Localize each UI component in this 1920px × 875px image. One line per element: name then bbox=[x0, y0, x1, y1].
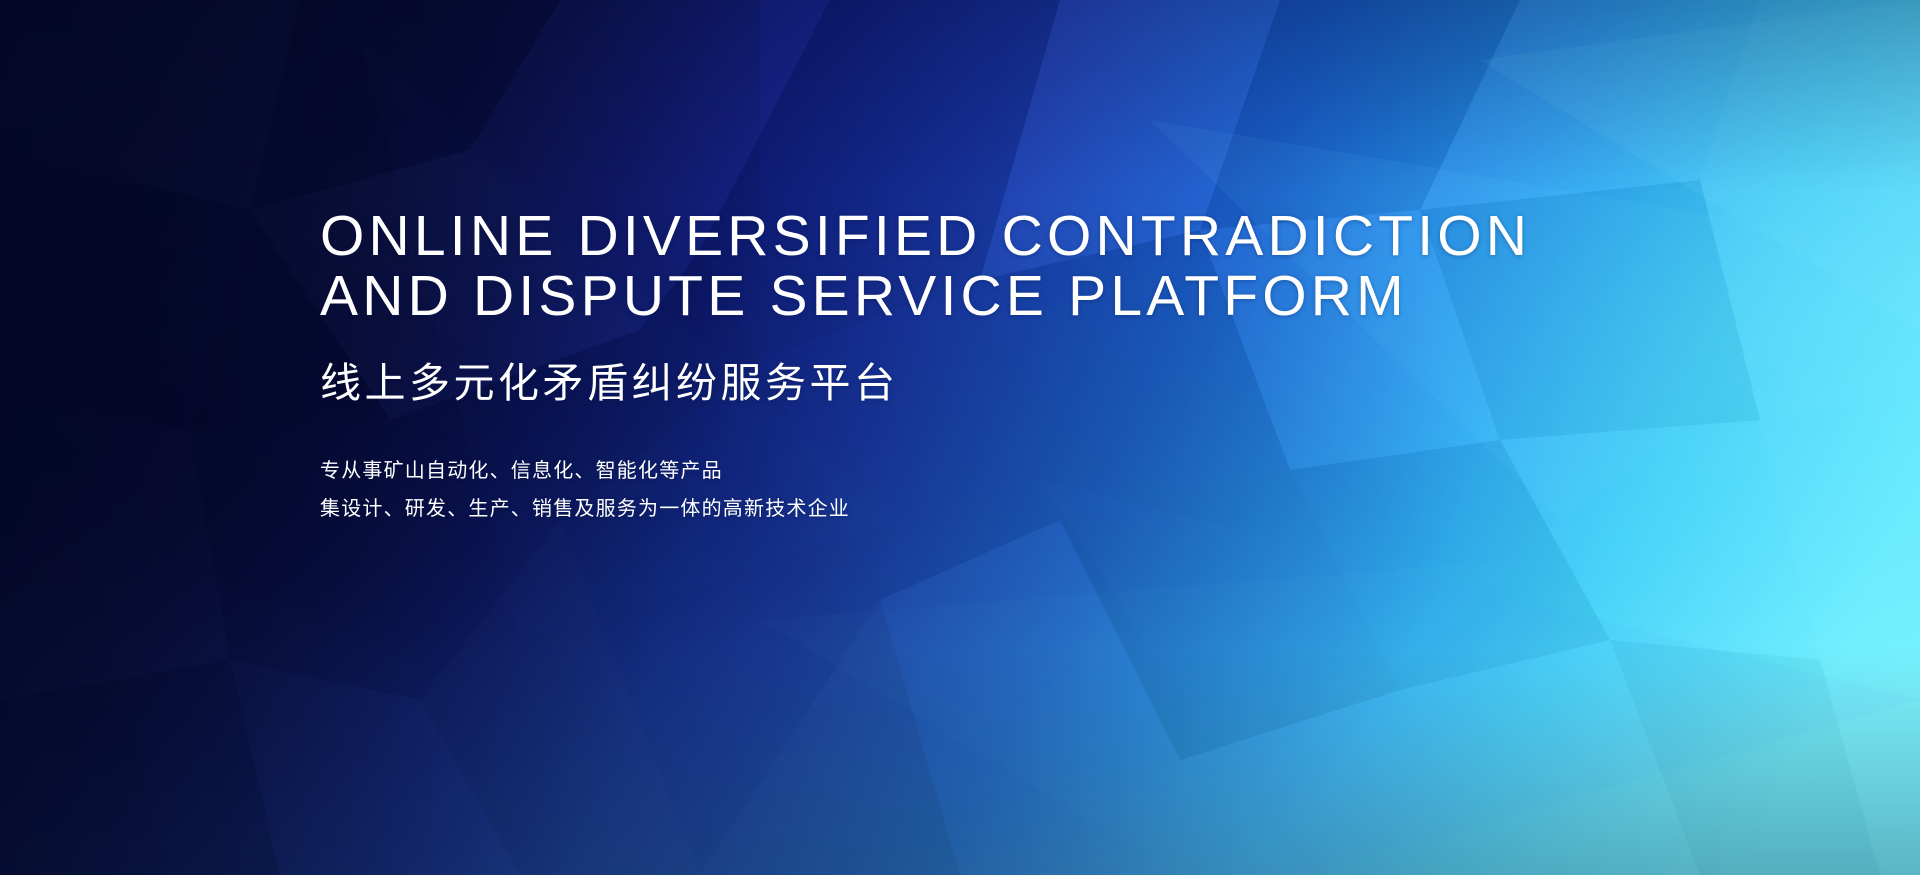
headline-line-1: ONLINE DIVERSIFIED CONTRADICTION bbox=[320, 206, 1420, 266]
description-line-2: 集设计、研发、生产、销售及服务为一体的高新技术企业 bbox=[320, 490, 1420, 528]
description-block: 专从事矿山自动化、信息化、智能化等产品 集设计、研发、生产、销售及服务为一体的高… bbox=[320, 452, 1420, 528]
hero-banner: ONLINE DIVERSIFIED CONTRADICTION AND DIS… bbox=[0, 0, 1920, 875]
description-line-1: 专从事矿山自动化、信息化、智能化等产品 bbox=[320, 452, 1420, 490]
subtitle-chinese: 线上多元化矛盾纠纷服务平台 bbox=[320, 360, 1420, 406]
hero-content: ONLINE DIVERSIFIED CONTRADICTION AND DIS… bbox=[320, 206, 1420, 528]
headline-line-2: AND DISPUTE SERVICE PLATFORM bbox=[320, 266, 1420, 326]
